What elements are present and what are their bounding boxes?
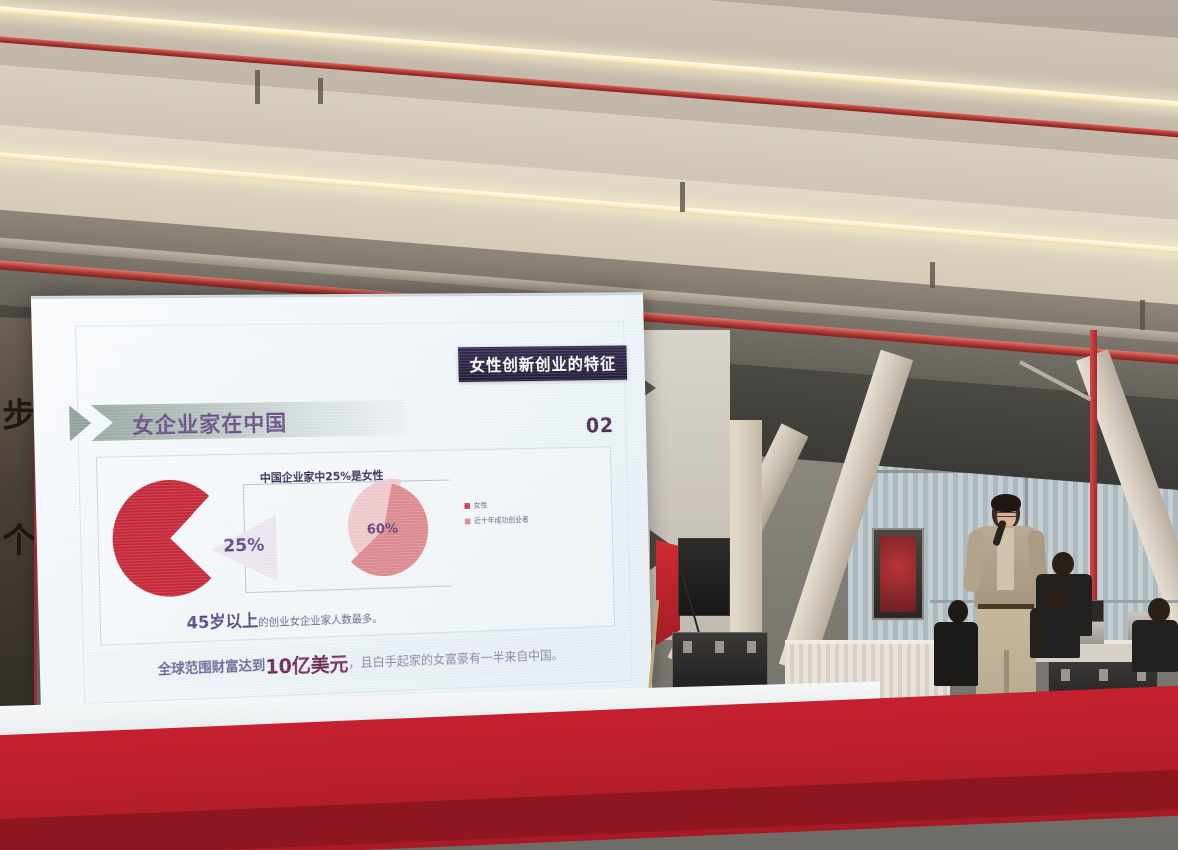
- slide-surface: 女性创新创业的特征 女企业家在中国 02 中国企业家中25%是女性 25%: [31, 292, 652, 720]
- pipe-hanger-1: [255, 70, 260, 104]
- projection-screen: 女性创新创业的特征 女企业家在中国 02 中国企业家中25%是女性 25%: [31, 292, 652, 720]
- case-latch-icon: [1099, 669, 1108, 681]
- chart-caption: 45岁以上的创业女企业家人数最多。: [186, 602, 383, 633]
- slide-title-banner: 女性创新创业的特征: [458, 345, 627, 382]
- presenter-hair: [991, 494, 1021, 512]
- chart-container: 中国企业家中25%是女性 25% 60% 女性: [96, 446, 615, 645]
- kiosk-screen: [880, 536, 916, 612]
- pipe-hanger-5: [1140, 300, 1145, 330]
- case-latch-icon: [1061, 669, 1070, 681]
- red-flag: [656, 540, 680, 645]
- ribbon-notch-icon: [91, 405, 113, 441]
- crew-head: [1148, 598, 1170, 622]
- legend-label: 女性: [474, 500, 488, 511]
- pie1-value-label: 25%: [223, 535, 265, 557]
- pipe-hanger-2: [318, 78, 323, 104]
- chart-legend: 女性 近十年成功创业者: [464, 499, 529, 531]
- crew-head: [1052, 552, 1074, 576]
- presenter-glasses-icon: [996, 512, 1017, 517]
- crew-head: [948, 600, 968, 623]
- pie2-value-label: 60%: [367, 521, 399, 537]
- legend-item: 近十年成功创业者: [465, 514, 529, 526]
- display-kiosk: [872, 528, 924, 620]
- legend-label: 近十年成功创业者: [474, 514, 529, 526]
- ribbon-title: 女企业家在中国: [132, 406, 288, 440]
- legend-swatch-icon: [464, 503, 470, 509]
- venue-scene: 步 个 女性创新创业的特征 女企业家在中国 02 中国企业家中25%是女性: [0, 0, 1178, 850]
- ribbon-tail: [69, 405, 92, 441]
- caption-text: 的创业女企业家人数最多。: [258, 612, 383, 629]
- case-latch-icon: [683, 641, 692, 653]
- red-truss-post: [1090, 330, 1097, 600]
- side-banner: 步 个: [0, 317, 36, 738]
- crew-body: [934, 622, 978, 686]
- crew-body: [1132, 620, 1178, 672]
- bottom-banner-part1: 全球范围财富达到: [157, 655, 265, 679]
- section-number: 02: [586, 414, 614, 437]
- pipe-hanger-4: [930, 262, 935, 288]
- bottom-banner-highlight: 10亿美元: [265, 648, 349, 680]
- pa-speaker: [678, 538, 730, 616]
- pipe-hanger-3: [680, 182, 685, 212]
- crew-body: [1030, 608, 1080, 658]
- bottom-banner-part3: ，且白手起家的女富豪有一半来自中国。: [348, 644, 564, 671]
- equipment-road-case: [672, 632, 768, 690]
- caption-emphasis: 45岁以上: [186, 611, 258, 633]
- pie-chart-recent-founders: 60%: [338, 478, 437, 581]
- annotation-line-bottom: [245, 585, 451, 593]
- legend-item: 女性: [464, 499, 528, 511]
- case-latch-icon: [715, 641, 724, 653]
- pie-chart-women-share: [111, 479, 228, 599]
- legend-swatch-icon: [465, 518, 471, 524]
- case-latch-icon: [747, 641, 756, 653]
- crew-head: [1046, 588, 1066, 610]
